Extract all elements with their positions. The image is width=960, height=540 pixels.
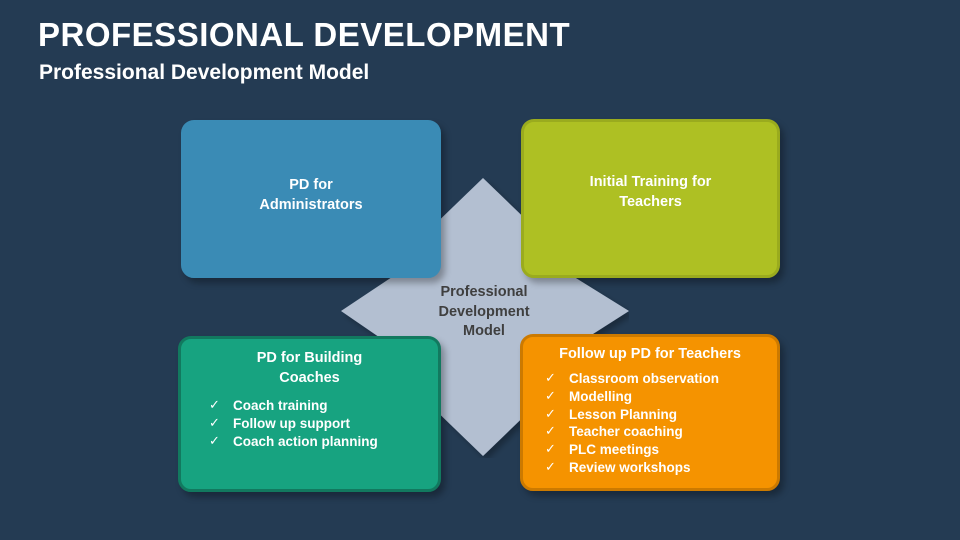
list-item-label: Lesson Planning <box>569 407 677 422</box>
list-item-label: Teacher coaching <box>569 424 683 439</box>
check-icon: ✓ <box>209 414 220 432</box>
check-icon: ✓ <box>209 396 220 414</box>
card-title: PD for Administrators <box>184 176 438 215</box>
list-item: ✓Modelling <box>544 388 719 406</box>
slide: PROFESSIONAL DEVELOPMENT Professional De… <box>0 0 960 540</box>
list-item-label: Modelling <box>569 389 632 404</box>
card-title: PD for Building Coaches <box>181 349 438 388</box>
list-item: ✓Classroom observation <box>544 370 719 388</box>
card-bullet-list: ✓Coach training✓Follow up support✓Coach … <box>208 397 378 450</box>
card-title: Follow up PD for Teachers <box>523 345 777 365</box>
card-pd-for-administrators[interactable]: PD for Administrators <box>181 120 441 278</box>
list-item-label: Review workshops <box>569 460 691 475</box>
check-icon: ✓ <box>545 387 556 405</box>
list-item: ✓Coach action planning <box>208 433 378 451</box>
list-item: ✓Review workshops <box>544 459 719 477</box>
list-item-label: Coach training <box>233 398 328 413</box>
check-icon: ✓ <box>209 432 220 450</box>
card-bullet-list: ✓Classroom observation✓Modelling✓Lesson … <box>544 370 719 477</box>
list-item: ✓Teacher coaching <box>544 423 719 441</box>
card-title: Initial Training for Teachers <box>524 173 777 212</box>
list-item: ✓Lesson Planning <box>544 406 719 424</box>
check-icon: ✓ <box>545 440 556 458</box>
card-title-line-1: Follow up PD for Teachers <box>523 345 777 365</box>
card-follow-up-pd-for-teachers[interactable]: Follow up PD for Teachers ✓Classroom obs… <box>520 334 780 491</box>
card-title-line-2: Teachers <box>524 193 777 213</box>
list-item-label: PLC meetings <box>569 442 659 457</box>
list-item: ✓Coach training <box>208 397 378 415</box>
card-initial-training-for-teachers[interactable]: Initial Training for Teachers <box>521 119 780 278</box>
list-item: ✓PLC meetings <box>544 441 719 459</box>
list-item-label: Follow up support <box>233 416 350 431</box>
card-title-line-1: PD for Building <box>181 349 438 369</box>
page-subtitle: Professional Development Model <box>39 60 369 85</box>
card-title-line-2: Administrators <box>184 196 438 216</box>
list-item-label: Coach action planning <box>233 434 378 449</box>
card-title-line-1: Initial Training for <box>524 173 777 193</box>
page-title: PROFESSIONAL DEVELOPMENT <box>38 17 570 53</box>
check-icon: ✓ <box>545 458 556 476</box>
check-icon: ✓ <box>545 422 556 440</box>
check-icon: ✓ <box>545 405 556 423</box>
card-title-line-1: PD for <box>184 176 438 196</box>
check-icon: ✓ <box>545 369 556 387</box>
card-pd-for-building-coaches[interactable]: PD for Building Coaches ✓Coach training✓… <box>178 336 441 492</box>
list-item-label: Classroom observation <box>569 371 719 386</box>
card-title-line-2: Coaches <box>181 369 438 389</box>
list-item: ✓Follow up support <box>208 415 378 433</box>
